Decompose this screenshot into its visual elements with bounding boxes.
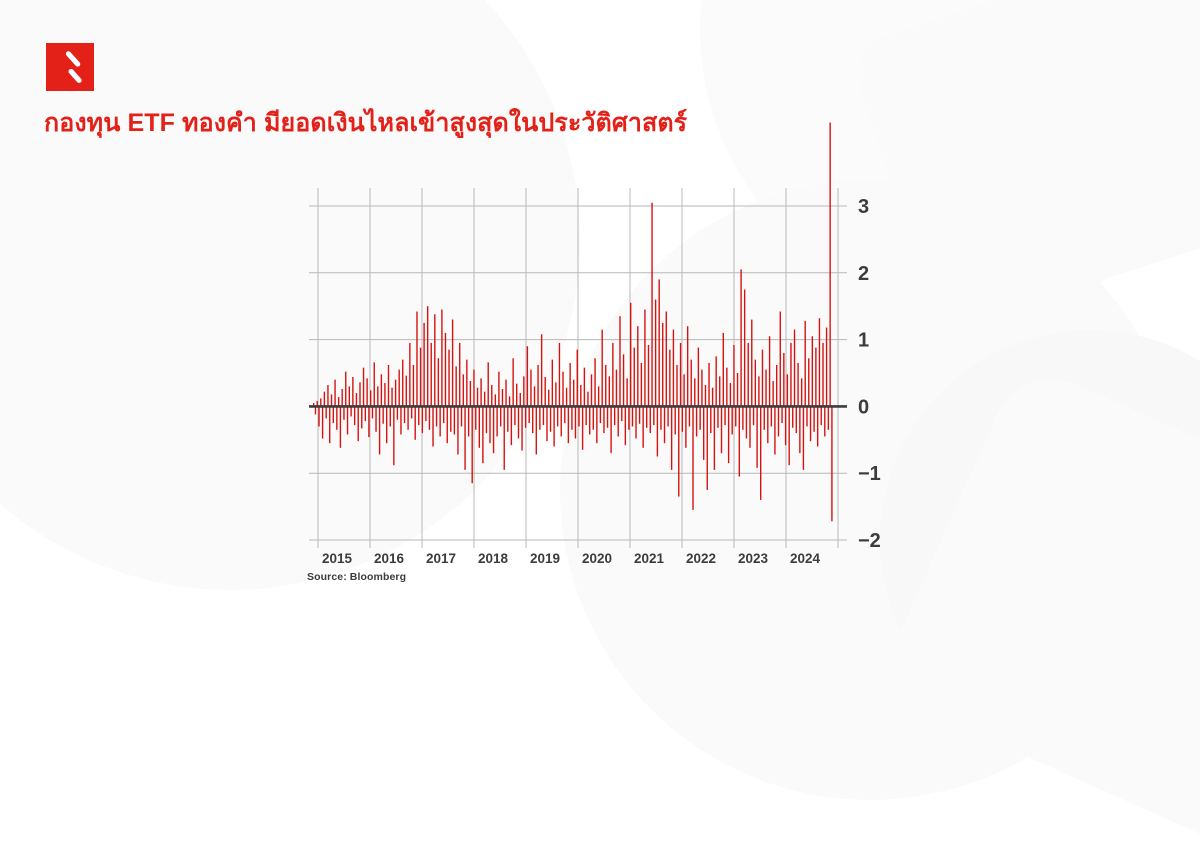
bar bbox=[395, 380, 396, 407]
x-axis-tick-label: 2023 bbox=[738, 551, 769, 566]
bar bbox=[678, 406, 679, 496]
bar bbox=[537, 365, 538, 406]
bar bbox=[610, 406, 611, 453]
bar bbox=[550, 406, 551, 431]
y-axis-tick-label: −1 bbox=[858, 463, 881, 485]
bar bbox=[464, 406, 465, 469]
bar bbox=[491, 385, 492, 406]
bar bbox=[685, 406, 686, 447]
bar bbox=[372, 406, 373, 418]
bar bbox=[336, 406, 337, 429]
bar bbox=[338, 397, 339, 406]
bar bbox=[557, 406, 558, 426]
bar bbox=[393, 406, 394, 465]
bar bbox=[447, 406, 448, 443]
bar bbox=[375, 406, 376, 431]
bar bbox=[694, 378, 695, 406]
bar bbox=[632, 406, 633, 426]
bar bbox=[769, 336, 770, 406]
bar bbox=[445, 333, 446, 406]
y-axis-labels: 3210−1−2 bbox=[858, 196, 881, 552]
bar bbox=[382, 406, 383, 423]
bar bbox=[790, 343, 791, 406]
bar bbox=[443, 406, 444, 423]
bar bbox=[803, 406, 804, 469]
bar bbox=[404, 406, 405, 423]
bar bbox=[384, 383, 385, 406]
bar bbox=[792, 406, 793, 427]
bar bbox=[630, 303, 631, 407]
x-axis-tick-label: 2020 bbox=[582, 551, 612, 566]
bar bbox=[676, 365, 677, 406]
bar bbox=[740, 269, 741, 406]
bar bbox=[644, 310, 645, 407]
bar bbox=[523, 376, 524, 406]
bar bbox=[616, 370, 617, 407]
x-axis-tick-label: 2017 bbox=[426, 551, 456, 566]
bar bbox=[402, 360, 403, 407]
x-axis-labels: 2015201620172018201920202021202220232024 bbox=[322, 551, 821, 566]
bar bbox=[708, 363, 709, 406]
bar bbox=[420, 348, 421, 407]
bar bbox=[783, 353, 784, 406]
bar bbox=[812, 336, 813, 406]
bar bbox=[667, 406, 668, 426]
bar bbox=[699, 406, 700, 429]
bar bbox=[324, 392, 325, 407]
bar bbox=[829, 123, 830, 407]
bar bbox=[528, 406, 529, 423]
bar bbox=[553, 406, 554, 446]
bar bbox=[532, 406, 533, 433]
bar bbox=[365, 406, 366, 421]
bar bbox=[341, 389, 342, 406]
bar bbox=[594, 358, 595, 406]
bar bbox=[527, 346, 528, 406]
bar bbox=[352, 377, 353, 406]
bar bbox=[600, 406, 601, 423]
bar bbox=[591, 374, 592, 406]
bar bbox=[723, 333, 724, 406]
bar bbox=[473, 370, 474, 407]
bar bbox=[785, 406, 786, 445]
bar bbox=[386, 406, 387, 443]
bar bbox=[468, 406, 469, 436]
bar bbox=[683, 374, 684, 406]
bar bbox=[495, 394, 496, 406]
bar bbox=[682, 406, 683, 431]
bar bbox=[637, 326, 638, 406]
bar bbox=[541, 334, 542, 406]
bar bbox=[817, 406, 818, 446]
bar bbox=[500, 406, 501, 426]
bar bbox=[691, 360, 692, 407]
bar bbox=[477, 388, 478, 407]
bar bbox=[755, 360, 756, 407]
bar bbox=[509, 396, 510, 406]
bar bbox=[539, 406, 540, 429]
bar bbox=[655, 300, 656, 407]
bar bbox=[514, 406, 515, 425]
bar bbox=[744, 290, 745, 407]
bar bbox=[737, 373, 738, 406]
bar bbox=[573, 380, 574, 407]
bar bbox=[418, 406, 419, 425]
bar bbox=[607, 406, 608, 427]
bar bbox=[582, 406, 583, 449]
bar bbox=[432, 406, 433, 446]
bar bbox=[721, 406, 722, 453]
bar bbox=[577, 350, 578, 407]
bar bbox=[653, 406, 654, 425]
bar bbox=[448, 350, 449, 407]
bar bbox=[354, 406, 355, 425]
bar bbox=[828, 406, 829, 429]
bar bbox=[771, 406, 772, 426]
y-axis-tick-label: 0 bbox=[858, 396, 869, 418]
bar bbox=[669, 350, 670, 407]
bar bbox=[587, 392, 588, 407]
bar bbox=[692, 406, 693, 510]
chart-bars bbox=[313, 123, 833, 522]
bar bbox=[459, 343, 460, 406]
bar bbox=[388, 365, 389, 406]
bar bbox=[438, 358, 439, 406]
bar bbox=[813, 406, 814, 431]
bar bbox=[781, 406, 782, 423]
bar bbox=[434, 314, 435, 406]
bar bbox=[767, 406, 768, 443]
bar bbox=[787, 374, 788, 406]
bar bbox=[450, 406, 451, 431]
bar bbox=[585, 406, 586, 425]
bar bbox=[566, 388, 567, 407]
bar bbox=[705, 385, 706, 406]
bar bbox=[733, 345, 734, 406]
chart-gridlines bbox=[309, 188, 847, 548]
bar bbox=[368, 406, 369, 437]
chart-container: 3210−1−2 2015201620172018201920202021202… bbox=[0, 0, 1200, 628]
bar bbox=[454, 406, 455, 434]
bar bbox=[701, 370, 702, 407]
bar bbox=[350, 406, 351, 416]
bar bbox=[810, 406, 811, 441]
bar bbox=[598, 386, 599, 406]
bar bbox=[390, 406, 391, 426]
bar bbox=[596, 406, 597, 443]
bar bbox=[831, 406, 832, 521]
bar bbox=[746, 406, 747, 438]
bar bbox=[710, 406, 711, 433]
bar bbox=[429, 406, 430, 429]
bar bbox=[423, 323, 424, 407]
bar bbox=[548, 390, 549, 407]
bar bbox=[415, 406, 416, 439]
y-axis-tick-label: 2 bbox=[858, 263, 869, 285]
bar bbox=[568, 406, 569, 443]
bar bbox=[824, 406, 825, 436]
bar bbox=[407, 406, 408, 429]
bar bbox=[801, 378, 802, 406]
bar bbox=[742, 406, 743, 429]
bar bbox=[819, 318, 820, 406]
bar bbox=[696, 406, 697, 436]
bar bbox=[425, 406, 426, 421]
bar bbox=[536, 406, 537, 454]
bar bbox=[707, 406, 708, 490]
flows-bar-chart: 3210−1−2 2015201620172018201920202021202… bbox=[0, 0, 1200, 628]
bar bbox=[680, 343, 681, 406]
bar bbox=[603, 406, 604, 433]
bar bbox=[635, 406, 636, 438]
bar bbox=[502, 389, 503, 406]
bar bbox=[400, 406, 401, 434]
page-title: กองทุน ETF ทองคำ มียอดเงินไหลเข้าสูงสุดใ… bbox=[44, 108, 687, 139]
x-axis-tick-label: 2018 bbox=[478, 551, 509, 566]
bar bbox=[664, 406, 665, 443]
bar bbox=[518, 406, 519, 438]
bar bbox=[397, 406, 398, 419]
bar bbox=[612, 343, 613, 406]
bar bbox=[739, 406, 740, 476]
bar bbox=[561, 406, 562, 436]
bar bbox=[735, 406, 736, 426]
bar bbox=[516, 384, 517, 407]
bar bbox=[377, 386, 378, 406]
bar bbox=[751, 320, 752, 407]
bar bbox=[756, 406, 757, 467]
bar bbox=[642, 406, 643, 447]
bar bbox=[641, 363, 642, 406]
bar bbox=[489, 406, 490, 443]
bar bbox=[662, 323, 663, 407]
bar bbox=[728, 406, 729, 463]
bar bbox=[778, 406, 779, 436]
bar bbox=[821, 406, 822, 425]
x-axis-tick-label: 2021 bbox=[634, 551, 665, 566]
bar bbox=[621, 406, 622, 421]
bar bbox=[822, 343, 823, 406]
bar bbox=[331, 394, 332, 406]
bar bbox=[512, 358, 513, 406]
bar bbox=[657, 406, 658, 456]
bar bbox=[826, 328, 827, 407]
bar bbox=[618, 406, 619, 436]
bar bbox=[671, 406, 672, 469]
bar bbox=[564, 406, 565, 423]
bar bbox=[726, 368, 727, 407]
y-axis-tick-label: 3 bbox=[858, 196, 869, 218]
bar bbox=[416, 312, 417, 407]
bar bbox=[521, 406, 522, 450]
bar bbox=[614, 406, 615, 425]
bar bbox=[562, 372, 563, 407]
bar bbox=[436, 406, 437, 426]
bar bbox=[715, 356, 716, 406]
bar bbox=[461, 406, 462, 426]
bar bbox=[593, 406, 594, 429]
bar bbox=[329, 406, 330, 443]
bar bbox=[666, 312, 667, 407]
bar bbox=[794, 330, 795, 407]
bar bbox=[471, 406, 472, 483]
bar bbox=[571, 406, 572, 429]
bar bbox=[358, 406, 359, 441]
bar bbox=[687, 326, 688, 406]
bar bbox=[480, 378, 481, 406]
bar bbox=[398, 370, 399, 407]
bar bbox=[717, 406, 718, 427]
bar bbox=[758, 376, 759, 406]
source-note: Source: Bloomberg bbox=[307, 571, 406, 583]
bar bbox=[780, 312, 781, 407]
bar bbox=[748, 343, 749, 406]
bar bbox=[349, 386, 350, 406]
bar bbox=[749, 406, 750, 447]
bar bbox=[799, 406, 800, 453]
bar bbox=[457, 406, 458, 454]
bar bbox=[488, 362, 489, 406]
y-axis-tick-label: 1 bbox=[858, 330, 869, 352]
bar bbox=[504, 406, 505, 469]
bar bbox=[559, 343, 560, 406]
bar bbox=[441, 310, 442, 407]
bar bbox=[772, 381, 773, 406]
bar bbox=[555, 382, 556, 406]
y-axis-tick-label: −2 bbox=[858, 530, 881, 552]
bar bbox=[580, 385, 581, 406]
bar bbox=[578, 406, 579, 426]
bar bbox=[422, 406, 423, 433]
bar bbox=[484, 392, 485, 407]
x-axis-tick-label: 2016 bbox=[374, 551, 405, 566]
bar bbox=[466, 360, 467, 407]
bar bbox=[505, 380, 506, 407]
bar bbox=[712, 388, 713, 407]
bar bbox=[534, 386, 535, 406]
bar bbox=[774, 406, 775, 454]
bar bbox=[439, 406, 440, 436]
bar bbox=[584, 368, 585, 407]
bar bbox=[796, 406, 797, 433]
bar bbox=[327, 385, 328, 406]
bar bbox=[530, 370, 531, 407]
bar bbox=[411, 406, 412, 418]
bar bbox=[325, 406, 326, 418]
bar bbox=[427, 306, 428, 406]
bar bbox=[452, 320, 453, 407]
bar bbox=[605, 365, 606, 406]
bar bbox=[646, 406, 647, 427]
bar bbox=[507, 406, 508, 431]
bar bbox=[575, 406, 576, 438]
bar bbox=[347, 406, 348, 434]
bar bbox=[764, 406, 765, 429]
bar bbox=[805, 321, 806, 407]
bar bbox=[806, 406, 807, 426]
bar bbox=[673, 330, 674, 407]
bar bbox=[498, 372, 499, 407]
bar bbox=[482, 406, 483, 463]
bar bbox=[552, 360, 553, 407]
bar bbox=[361, 406, 362, 428]
bar bbox=[703, 406, 704, 459]
bar bbox=[479, 406, 480, 447]
x-axis-tick-label: 2024 bbox=[790, 551, 821, 566]
bar bbox=[470, 381, 471, 406]
bar bbox=[475, 406, 476, 429]
bar bbox=[391, 388, 392, 407]
bar bbox=[496, 406, 497, 436]
bar bbox=[731, 406, 732, 434]
brand-logo-icon bbox=[46, 43, 94, 91]
bar bbox=[345, 372, 346, 407]
bar bbox=[675, 406, 676, 434]
bar bbox=[808, 358, 809, 406]
bar bbox=[698, 348, 699, 407]
bar bbox=[359, 382, 360, 406]
bar bbox=[619, 316, 620, 406]
bar bbox=[413, 365, 414, 406]
bar bbox=[601, 330, 602, 407]
bar bbox=[406, 376, 407, 407]
bar bbox=[545, 377, 546, 406]
bar bbox=[651, 203, 652, 407]
bar bbox=[648, 345, 649, 406]
bar bbox=[609, 376, 610, 406]
bar bbox=[356, 393, 357, 406]
bar bbox=[776, 365, 777, 406]
bar bbox=[363, 368, 364, 407]
bar bbox=[730, 383, 731, 406]
bar bbox=[370, 390, 371, 406]
bar bbox=[626, 378, 627, 406]
bar bbox=[753, 406, 754, 425]
bar bbox=[797, 363, 798, 406]
bar bbox=[334, 380, 335, 407]
bar bbox=[639, 406, 640, 423]
bar bbox=[634, 348, 635, 407]
bar bbox=[724, 406, 725, 425]
bar bbox=[333, 406, 334, 423]
bar bbox=[463, 374, 464, 406]
bar bbox=[379, 406, 380, 454]
bar bbox=[589, 406, 590, 434]
x-axis-tick-label: 2022 bbox=[686, 551, 716, 566]
bar bbox=[625, 406, 626, 445]
bar bbox=[431, 343, 432, 406]
bar bbox=[660, 406, 661, 429]
bar bbox=[493, 406, 494, 453]
bar bbox=[340, 406, 341, 447]
bar bbox=[762, 350, 763, 407]
bar bbox=[765, 370, 766, 407]
bar bbox=[318, 406, 319, 426]
x-axis-tick-label: 2019 bbox=[530, 551, 560, 566]
bar bbox=[788, 406, 789, 465]
bar bbox=[623, 354, 624, 406]
bar bbox=[374, 362, 375, 406]
bar bbox=[455, 366, 456, 406]
bar bbox=[658, 279, 659, 406]
bar bbox=[486, 406, 487, 433]
bar bbox=[760, 406, 761, 500]
x-axis-tick-label: 2015 bbox=[322, 551, 353, 566]
bar bbox=[525, 406, 526, 427]
bar bbox=[520, 393, 521, 406]
bar bbox=[409, 343, 410, 406]
bar bbox=[543, 406, 544, 425]
